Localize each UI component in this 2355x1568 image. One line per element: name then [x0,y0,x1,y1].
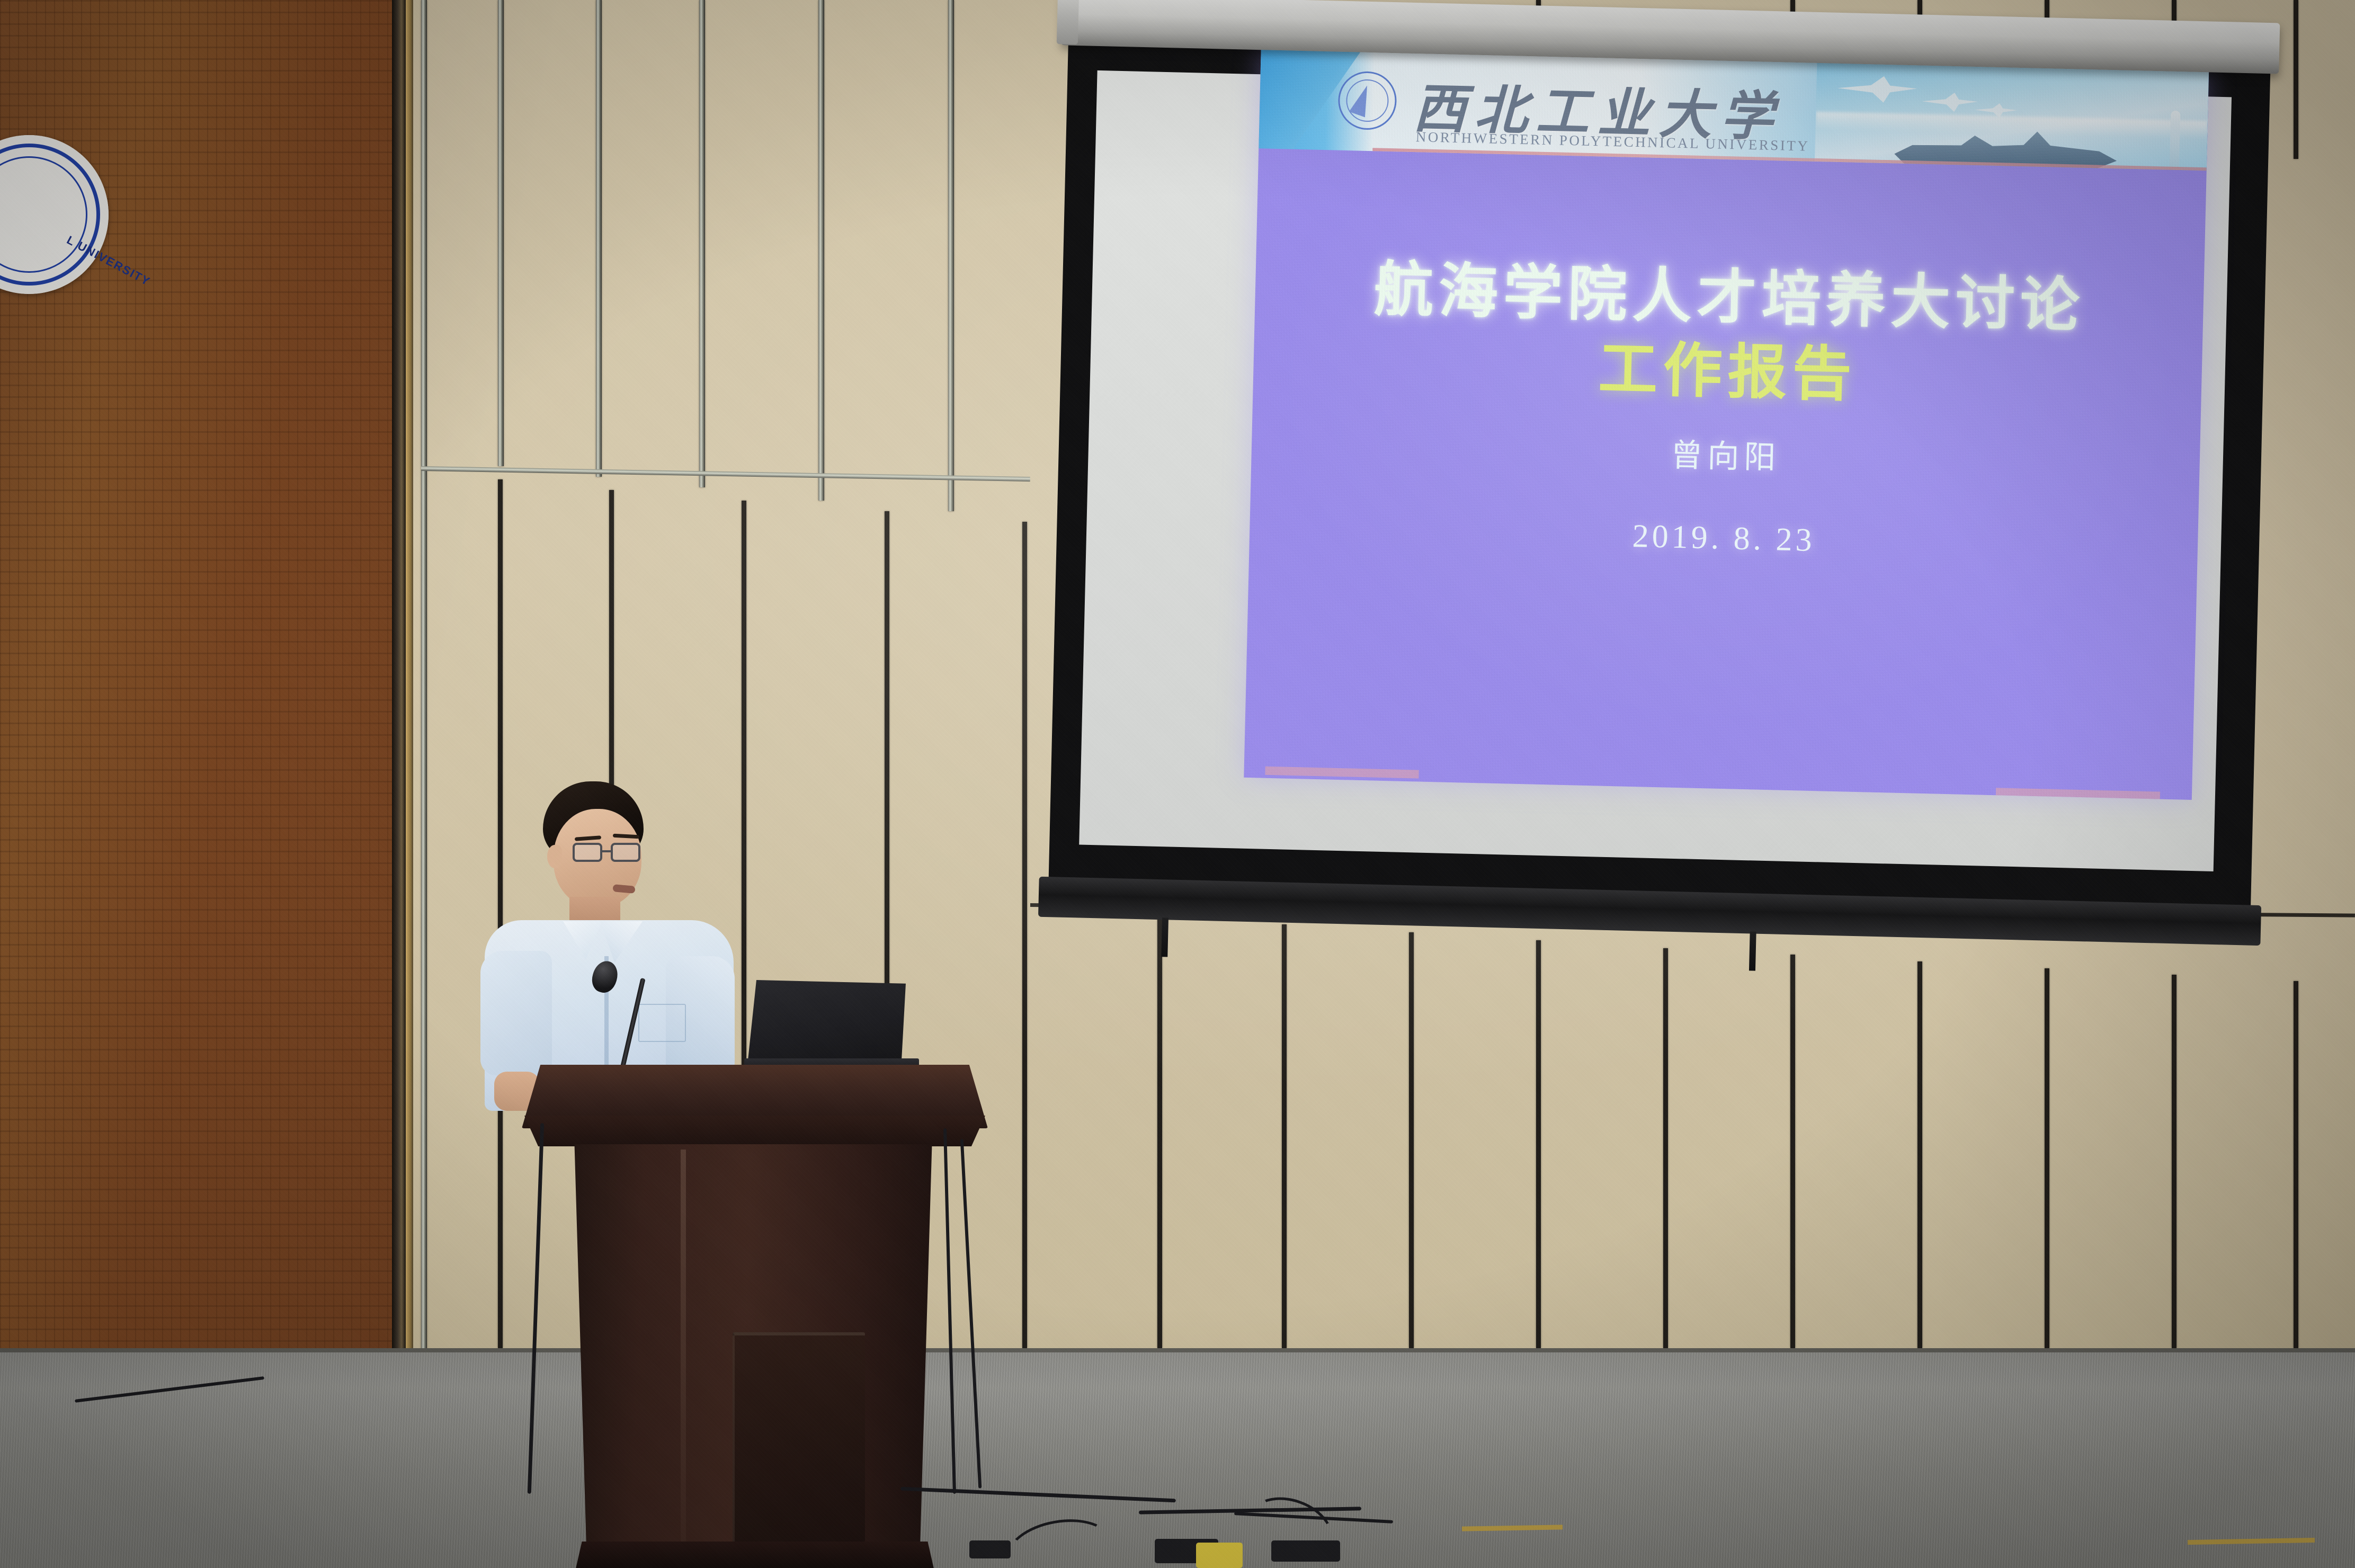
wall-seam [498,0,504,466]
carpet-floor [0,1348,2355,1568]
projected-slide: 西北工业大学 NORTHWESTERN POLYTECHNICAL UNIVER… [1244,48,2209,800]
slide-author: 曾向阳 [1251,420,2200,488]
wall-seam [596,0,602,477]
slide-date: 2019. 8. 23 [1250,509,2198,568]
wall-seam [2172,975,2176,1348]
wall-seam [948,0,954,511]
fighter-jet-icon [1922,92,1978,115]
connector-block [1271,1540,1340,1562]
power-adapter [969,1540,1011,1558]
wall-seam [2294,981,2298,1348]
wall-seam [1282,924,1287,1348]
eyeglass-lens [573,843,602,862]
lectern-front-panel [733,1332,865,1560]
yellow-power-adapter [1196,1543,1243,1568]
shirt-pocket [638,1004,686,1042]
wall-seam [818,0,824,501]
eyeglass-lens [611,843,640,862]
screen-roller-endcap [1057,0,1079,44]
wall-seam [1022,522,1027,1348]
lectern-base [575,1542,935,1568]
speaker-ear [547,845,562,868]
wall-seam [2294,0,2298,159]
projection-screen: 西北工业大学 NORTHWESTERN POLYTECHNICAL UNIVER… [1056,0,2264,955]
wall-seal-text: L UNIVERSITY [0,135,109,294]
wood-panel-edge [392,0,406,1420]
wall-seam [1790,955,1795,1348]
wall-seam [1536,940,1541,1348]
wall-seam [2045,968,2049,1348]
banner-montage [1815,61,2209,171]
wall-seam [1157,916,1162,1348]
wall-university-seal: L UNIVERSITY [0,135,109,294]
rocket-icon [2170,111,2181,170]
wood-panel-trim [406,0,413,1420]
floor-wall-junction [0,1348,2355,1352]
wooden-lectern [522,1065,998,1568]
speaker-sleeve-left [480,951,552,1075]
wall-seam [699,0,705,487]
screen-strap [1749,931,1756,970]
slide-body: 航海学院人才培养大讨论 工作报告 曾向阳 2019. 8. 23 [1244,148,2206,800]
cloud-band [1815,112,2208,139]
eyeglasses-icon [573,843,643,863]
wall-seam [1409,932,1414,1348]
screen-strap [1161,917,1168,957]
open-laptop-black[interactable] [747,980,906,1070]
fighter-jet-icon [1837,75,1917,108]
wall-seam [1917,961,1922,1348]
wall-seam [421,0,427,1356]
lectern-edge-bevel [681,1150,686,1542]
photo-scene: L UNIVERSITY 西北工业大学 NORTHWESTERN POLYTEC… [0,0,2355,1568]
lectern-top-front [524,1116,985,1146]
speaker-at-lectern [479,781,744,1110]
wall-seam [1663,948,1668,1348]
